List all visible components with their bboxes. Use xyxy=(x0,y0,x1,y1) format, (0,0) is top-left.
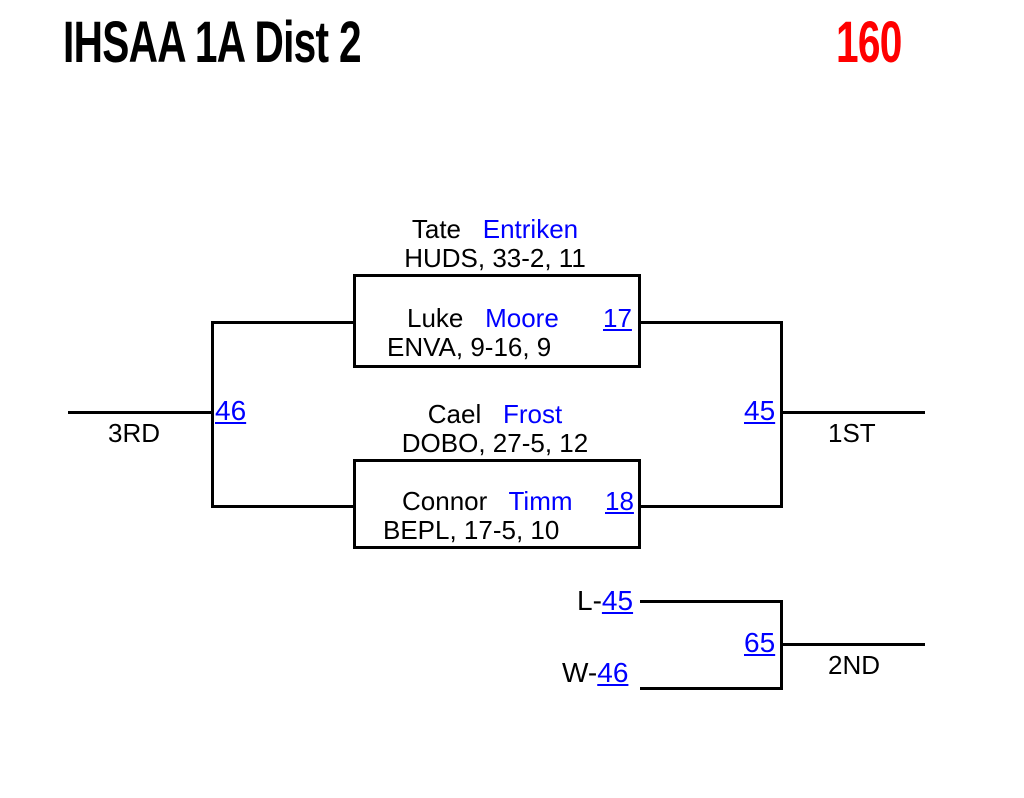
championship-bottom-connector xyxy=(640,505,783,508)
page-title: IHSAA 1A Dist 2 xyxy=(63,14,361,72)
second-place-top-feed: L-45 xyxy=(577,585,633,617)
second-place-label: 2ND xyxy=(828,650,880,680)
second-place-top-connector xyxy=(640,600,783,603)
third-place-label: 3RD xyxy=(108,418,160,448)
consolation-bottom-connector xyxy=(211,505,354,508)
wrestler-first-name: Cael xyxy=(428,399,481,429)
championship-vertical-connector xyxy=(780,321,783,508)
weight-class-label: 160 xyxy=(836,14,902,72)
second-place-top-feed-prefix: L- xyxy=(577,585,602,616)
wrestler-first-name: Connor xyxy=(402,486,487,516)
wrestler-last-name: Frost xyxy=(503,399,562,429)
semifinal-1-top-wrestler-name: Tate Entriken xyxy=(345,214,645,244)
bracket-page: IHSAA 1A Dist 2 160 Tate Entriken HUDS, … xyxy=(0,0,1024,798)
championship-bout-number[interactable]: 45 xyxy=(744,395,775,427)
wrestler-first-name: Luke xyxy=(407,303,463,333)
semifinal-1-bout-number[interactable]: 17 xyxy=(603,303,632,333)
second-place-bottom-connector xyxy=(640,687,783,690)
wrestler-last-name: Timm xyxy=(509,486,573,516)
second-place-output-line xyxy=(780,643,925,646)
consolation-vertical-connector xyxy=(211,321,214,508)
second-place-bout-number[interactable]: 65 xyxy=(744,627,775,659)
second-place-bottom-feed-number[interactable]: 46 xyxy=(597,657,628,688)
semifinal-2-box[interactable]: Connor Timm BEPL, 17-5, 10 18 xyxy=(353,459,641,549)
semifinal-1-bottom-wrestler-info: ENVA, 9-16, 9 xyxy=(387,332,551,362)
consolation-output-line xyxy=(68,411,214,414)
second-place-bottom-feed: W-46 xyxy=(562,657,628,689)
wrestler-last-name: Moore xyxy=(485,303,559,333)
championship-top-connector xyxy=(640,321,783,324)
semifinal-2-bottom-wrestler-info: BEPL, 17-5, 10 xyxy=(383,515,559,545)
semifinal-1-top-wrestler-info: HUDS, 33-2, 11 xyxy=(345,243,645,273)
semifinal-1-box[interactable]: Luke Moore ENVA, 9-16, 9 17 xyxy=(353,274,641,368)
semifinal-2-top-wrestler-info: DOBO, 27-5, 12 xyxy=(345,428,645,458)
second-place-bottom-feed-prefix: W- xyxy=(562,657,597,688)
first-place-label: 1ST xyxy=(828,418,876,448)
consolation-bout-number[interactable]: 46 xyxy=(215,395,246,427)
semifinal-1-bottom-wrestler-name: Luke Moore xyxy=(407,303,559,333)
semifinal-2-top-wrestler-name: Cael Frost xyxy=(345,399,645,429)
semifinal-2-bottom-wrestler-name: Connor Timm xyxy=(402,486,573,516)
wrestler-last-name: Entriken xyxy=(483,214,578,244)
wrestler-first-name: Tate xyxy=(412,214,461,244)
second-place-top-feed-number[interactable]: 45 xyxy=(602,585,633,616)
consolation-top-connector xyxy=(211,321,354,324)
semifinal-2-bout-number[interactable]: 18 xyxy=(605,486,634,516)
championship-output-line xyxy=(780,411,925,414)
